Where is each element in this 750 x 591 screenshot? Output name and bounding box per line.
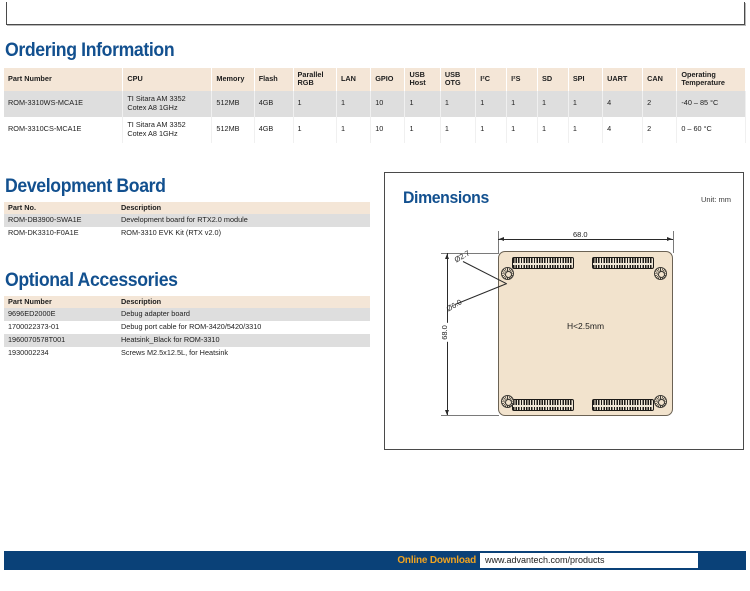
page-title-ordering-information: Ordering Information [5, 41, 174, 60]
ext-line-left [498, 231, 499, 253]
cell-uart: 4 [603, 117, 643, 143]
cell-part-number: 1960070578T001 [4, 334, 117, 347]
board-height-note: H<2.5mm [498, 321, 673, 331]
cell-description: Screws M2.5x12.5L, for Heatsink [117, 347, 370, 360]
col-parallel-rgb: Parallel RGB [293, 68, 336, 91]
cell-memory: 512MB [212, 91, 254, 117]
col-i2s: I²S [507, 68, 538, 91]
col-part-no: Part No. [4, 202, 117, 214]
cell-can: 2 [643, 117, 677, 143]
cell-i2s: 1 [507, 91, 538, 117]
cell-usb-host: 1 [405, 117, 440, 143]
board-connector-bottom-right [592, 399, 654, 411]
cell-part-no: ROM-DB3900-SWA1E [4, 214, 117, 227]
col-uart: UART [603, 68, 643, 91]
mounting-hole-top-left [501, 267, 514, 280]
col-spi: SPI [568, 68, 602, 91]
mounting-hole-top-right [654, 267, 667, 280]
cpu-line-2: Cotex A8 1GHz [127, 129, 177, 138]
online-download-label: Online Download [397, 555, 476, 566]
ext-line-right [673, 231, 674, 253]
table-row: ROM-3310CS-MCA1E TI Sitara AM 3352 Cotex… [4, 117, 746, 143]
optional-accessories-table: Part Number Description 9696ED2000E Debu… [4, 296, 370, 359]
cell-flash: 4GB [254, 91, 293, 117]
cell-part-number: ROM-3310CS-MCA1E [4, 117, 123, 143]
table-row: 1700022373-01 Debug port cable for ROM-3… [4, 321, 370, 334]
table-row: ROM-DB3900-SWA1E Development board for R… [4, 214, 370, 227]
cell-lan: 1 [336, 117, 370, 143]
cell-part-number: ROM-3310WS-MCA1E [4, 91, 123, 117]
mounting-hole-bottom-right [654, 395, 667, 408]
module-board-outline [498, 251, 673, 416]
cell-part-number: 9696ED2000E [4, 308, 117, 321]
col-can: CAN [643, 68, 677, 91]
arrow-right-icon [667, 237, 672, 241]
development-board-table: Part No. Description ROM-DB3900-SWA1E De… [4, 202, 370, 240]
cell-i2s: 1 [507, 117, 538, 143]
cell-gpio: 10 [371, 117, 405, 143]
col-gpio: GPIO [371, 68, 405, 91]
cell-operating-temperature: 0 – 60 °C [677, 117, 746, 143]
col-memory: Memory [212, 68, 254, 91]
table-row: 1930002234 Screws M2.5x12.5L, for Heatsi… [4, 347, 370, 360]
cell-spi: 1 [568, 91, 602, 117]
cell-parallel-rgb: 1 [293, 117, 336, 143]
cell-part-no: ROM-DK3310-F0A1E [4, 227, 117, 240]
col-sd: SD [537, 68, 568, 91]
cell-sd: 1 [537, 117, 568, 143]
arrow-left-icon [499, 237, 504, 241]
col-i2c: I²C [476, 68, 507, 91]
col-description: Description [117, 296, 370, 308]
col-lan: LAN [336, 68, 370, 91]
cell-i2c: 1 [476, 117, 507, 143]
table-row: 9696ED2000E Debug adapter board [4, 308, 370, 321]
col-part-number: Part Number [4, 68, 123, 91]
dimensions-panel: Dimensions Unit: mm 68.0 68.0 [384, 172, 744, 450]
table-row: 1960070578T001 Heatsink_Black for ROM-33… [4, 334, 370, 347]
table-header-row: Part Number Description [4, 296, 370, 308]
board-connector-top-right [592, 257, 654, 269]
cell-part-number: 1700022373-01 [4, 321, 117, 334]
col-part-number: Part Number [4, 296, 117, 308]
arrow-up-icon [445, 254, 449, 259]
cell-description: Heatsink_Black for ROM-3310 [117, 334, 370, 347]
cell-usb-host: 1 [405, 91, 440, 117]
board-dimension-drawing: 68.0 68.0 Ø2.7 Ø6.0 [385, 173, 745, 451]
cell-part-number: 1930002234 [4, 347, 117, 360]
cell-flash: 4GB [254, 117, 293, 143]
cpu-line-1: TI Sitara AM 3352 [127, 94, 185, 103]
cpu-line-2: Cotex A8 1GHz [127, 103, 177, 112]
top-cutoff-panel [6, 2, 745, 25]
width-dimension-value: 68.0 [571, 230, 590, 239]
cell-description: Development board for RTX2.0 module [117, 214, 370, 227]
cell-memory: 512MB [212, 117, 254, 143]
cell-i2c: 1 [476, 91, 507, 117]
cell-operating-temperature: -40 – 85 °C [677, 91, 746, 117]
cell-description: ROM-3310 EVK Kit (RTX v2.0) [117, 227, 370, 240]
cell-usb-otg: 1 [440, 91, 475, 117]
col-flash: Flash [254, 68, 293, 91]
col-description: Description [117, 202, 370, 214]
cell-can: 2 [643, 91, 677, 117]
board-connector-top-left [512, 257, 574, 269]
cell-spi: 1 [568, 117, 602, 143]
col-usb-otg: USB OTG [440, 68, 475, 91]
board-connector-bottom-left [512, 399, 574, 411]
online-download-url[interactable]: www.advantech.com/products [480, 553, 698, 568]
table-header-row: Part Number CPU Memory Flash Parallel RG… [4, 68, 746, 91]
footer-bar: Online Download www.advantech.com/produc… [4, 551, 746, 570]
ext-line-bottom [441, 415, 499, 416]
col-usb-host: USB Host [405, 68, 440, 91]
cell-gpio: 10 [371, 91, 405, 117]
cell-description: Debug port cable for ROM-3420/5420/3310 [117, 321, 370, 334]
datasheet-page: Ordering Information Part Number CPU Mem… [0, 0, 750, 591]
cell-description: Debug adapter board [117, 308, 370, 321]
cell-parallel-rgb: 1 [293, 91, 336, 117]
col-cpu: CPU [123, 68, 212, 91]
col-operating-temperature: Operating Temperature [677, 68, 746, 91]
page-title-optional-accessories: Optional Accessories [5, 271, 178, 290]
table-row: ROM-DK3310-F0A1E ROM-3310 EVK Kit (RTX v… [4, 227, 370, 240]
page-title-development-board: Development Board [5, 177, 166, 196]
mounting-hole-bottom-left [501, 395, 514, 408]
cell-cpu: TI Sitara AM 3352 Cotex A8 1GHz [123, 117, 212, 143]
cell-usb-otg: 1 [440, 117, 475, 143]
cell-cpu: TI Sitara AM 3352 Cotex A8 1GHz [123, 91, 212, 117]
height-dimension-value: 68.0 [440, 323, 449, 342]
cpu-line-1: TI Sitara AM 3352 [127, 120, 185, 129]
ordering-information-table: Part Number CPU Memory Flash Parallel RG… [4, 68, 746, 143]
width-dimension-line [498, 239, 673, 240]
cell-lan: 1 [336, 91, 370, 117]
cell-sd: 1 [537, 91, 568, 117]
cell-uart: 4 [603, 91, 643, 117]
table-header-row: Part No. Description [4, 202, 370, 214]
table-row: ROM-3310WS-MCA1E TI Sitara AM 3352 Cotex… [4, 91, 746, 117]
arrow-down-icon [445, 410, 449, 415]
